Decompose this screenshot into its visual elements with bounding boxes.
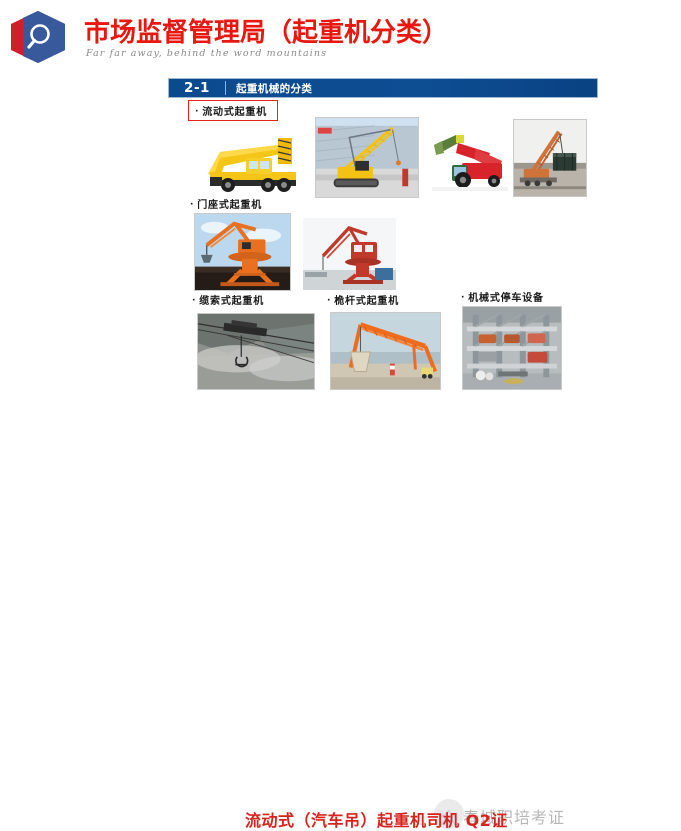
- portal-grab-crane-photo: [194, 213, 291, 291]
- label-portal-crane: ·门座式起重机: [190, 196, 262, 211]
- label-text: 门座式起重机: [197, 200, 262, 211]
- slide-canvas: 市场监督管理局（起重机分类） Far far away, behind the …: [0, 0, 681, 451]
- label-text: 桅杆式起重机: [334, 296, 399, 307]
- label-mobile-crane: ·流动式起重机: [188, 100, 278, 121]
- cable-crane-photo: [197, 313, 315, 390]
- bullet-dot: ·: [327, 296, 331, 306]
- label-text: 流动式起重机: [202, 107, 267, 118]
- page-title: 市场监督管理局（起重机分类）: [84, 12, 448, 49]
- label-text: 机械式停车设备: [468, 293, 544, 304]
- section-title: 起重机械的分类: [226, 81, 312, 96]
- slide-footer: 众 流动式（汽车吊）起重机司机 Q2证 春城职培考证: [0, 400, 681, 440]
- bullet-dot: ·: [461, 293, 465, 303]
- mast-derrick-crane-photo: [330, 312, 441, 390]
- railway-crane-photo: [513, 119, 587, 197]
- hexagon-magnifier-logo-icon: [7, 9, 69, 65]
- section-number: 2-1: [169, 80, 225, 96]
- bullet-dot: ·: [190, 200, 194, 210]
- crawler-crane-photo: [315, 117, 419, 198]
- reach-stacker-photo: [432, 127, 508, 191]
- label-cable-crane: ·缆索式起重机: [192, 292, 264, 307]
- bullet-dot: ·: [195, 107, 199, 117]
- label-mechanical-parking: ·机械式停车设备: [461, 289, 544, 304]
- bullet-dot: ·: [192, 296, 196, 306]
- label-mast-crane: ·桅杆式起重机: [327, 292, 399, 307]
- mechanical-parking-photo: [462, 306, 562, 390]
- slide-header: 市场监督管理局（起重机分类） Far far away, behind the …: [0, 0, 681, 72]
- label-text: 缆索式起重机: [199, 296, 264, 307]
- truck-crane-photo: [190, 122, 312, 196]
- footer-caption: 流动式（汽车吊）起重机司机 Q2证: [245, 807, 508, 831]
- page-subtitle: Far far away, behind the word mountains: [86, 48, 327, 59]
- section-banner: 2-1 起重机械的分类: [168, 78, 598, 98]
- portal-crane-red-photo: [303, 218, 396, 290]
